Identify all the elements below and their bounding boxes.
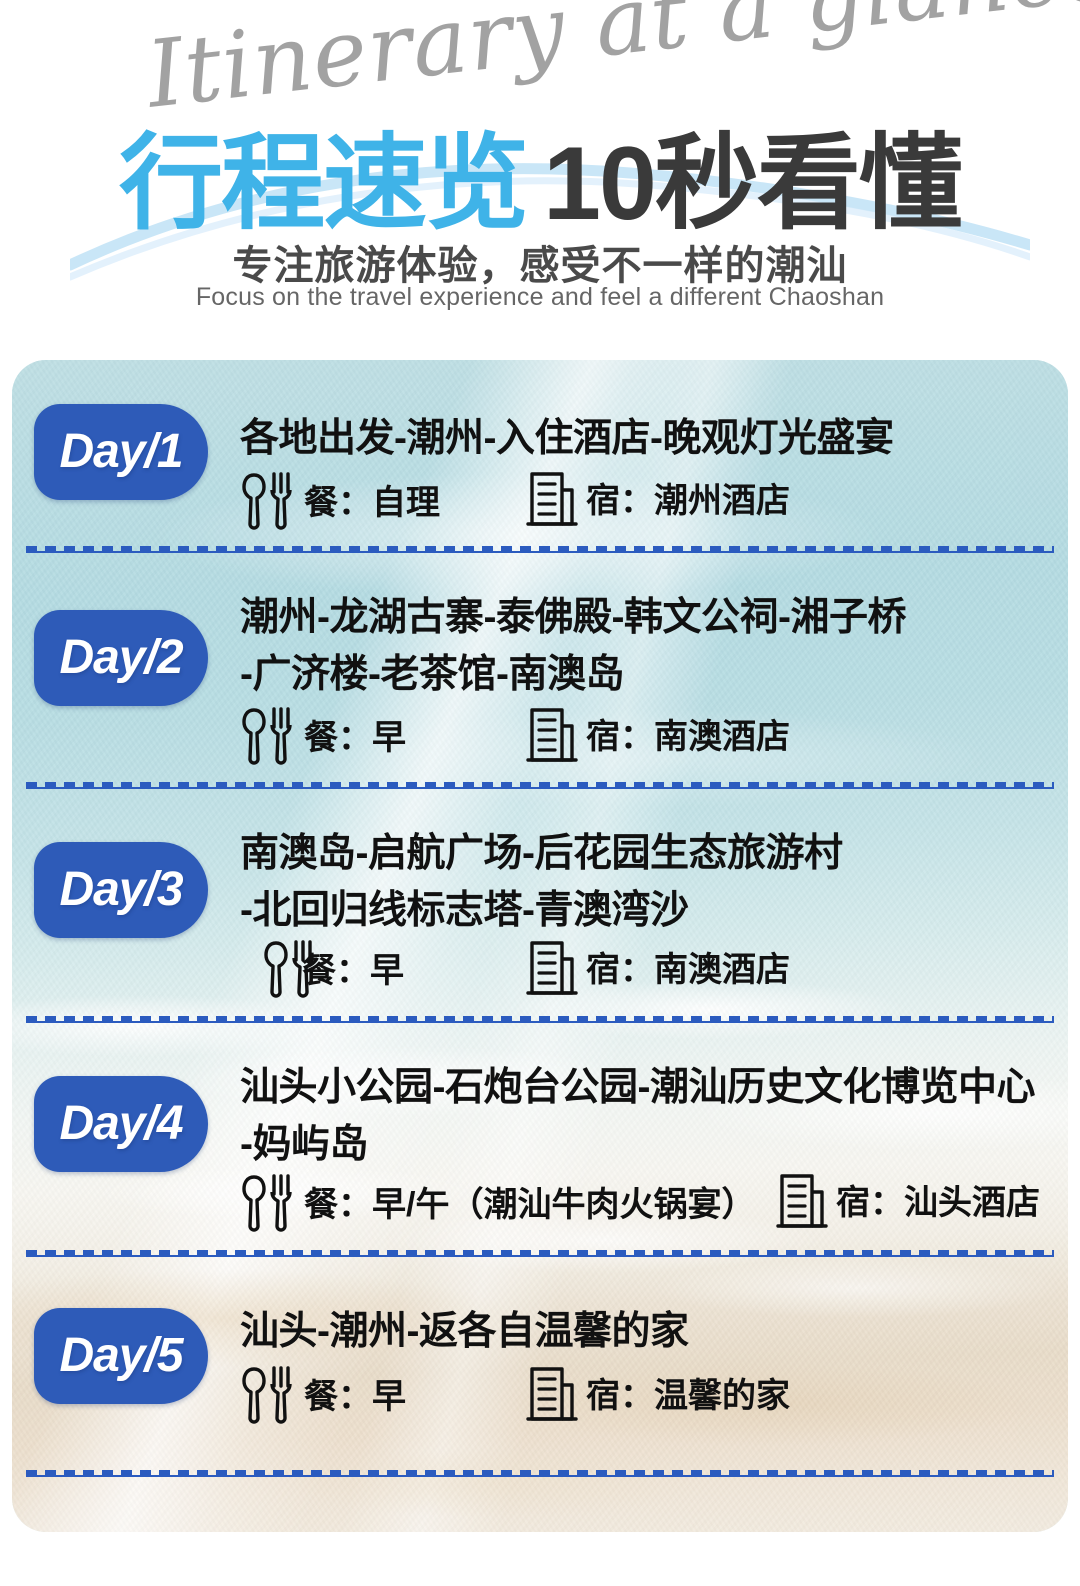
hotel-building-icon bbox=[524, 933, 580, 999]
spoon-fork-icon bbox=[240, 703, 298, 765]
hotel-building-icon bbox=[524, 464, 580, 530]
route-line-2-2: -广济楼-老茶馆-南澳岛 bbox=[240, 643, 624, 699]
day-badge-label-5: Day/5 bbox=[34, 1308, 208, 1404]
day-badge-label-4: Day/4 bbox=[34, 1076, 208, 1172]
stay-text-4: 宿：汕头酒店 bbox=[836, 1175, 1040, 1224]
day-badge-1[interactable]: Day/1 bbox=[34, 404, 208, 500]
route-line-3-1: 南澳岛-启航广场-后花园生态旅游村 bbox=[240, 822, 842, 878]
day-badge-label-1: Day/1 bbox=[34, 404, 208, 500]
page-header: Itinerary at a glance 行程速览10秒看懂 专注旅游体验，感… bbox=[0, 0, 1080, 340]
route-line-1-1: 各地出发-潮州-入住酒店-晚观灯光盛宴 bbox=[240, 407, 893, 463]
day-rows-container: Day/1 各地出发-潮州-入住酒店-晚观灯光盛宴 餐：自理 宿：潮州酒店 bbox=[12, 360, 1068, 1532]
stay-text-1: 宿：潮州酒店 bbox=[586, 473, 790, 522]
stay-info-1: 宿：潮州酒店 bbox=[524, 464, 790, 530]
day-badge-label-2: Day/2 bbox=[34, 610, 208, 706]
stay-info-4: 宿：汕头酒店 bbox=[774, 1166, 1040, 1232]
row-divider-2 bbox=[26, 782, 1054, 790]
stay-text-5: 宿：温馨的家 bbox=[586, 1368, 790, 1417]
divider-solid-line bbox=[26, 787, 1054, 789]
stay-info-5: 宿：温馨的家 bbox=[524, 1359, 790, 1425]
title-dark-text: 10秒看懂 bbox=[543, 126, 961, 242]
meal-info-4: 餐：早/午（潮汕牛肉火锅宴） bbox=[240, 1170, 755, 1232]
subtitle-english: Focus on the travel experience and feel … bbox=[0, 283, 1080, 312]
day-badge-label-3: Day/3 bbox=[34, 842, 208, 938]
meal-text-4: 餐：早/午（潮汕牛肉火锅宴） bbox=[304, 1177, 755, 1226]
meal-info-2: 餐：早 bbox=[240, 703, 406, 765]
day-badge-3[interactable]: Day/3 bbox=[34, 842, 208, 938]
day-badge-5[interactable]: Day/5 bbox=[34, 1308, 208, 1404]
row-divider-4 bbox=[26, 1250, 1054, 1258]
divider-solid-line bbox=[26, 551, 1054, 553]
day-badge-2[interactable]: Day/2 bbox=[34, 610, 208, 706]
title-blue-text: 行程速览 bbox=[119, 126, 527, 242]
stay-info-3: 宿：南澳酒店 bbox=[524, 933, 790, 999]
stay-text-3: 宿：南澳酒店 bbox=[586, 942, 790, 991]
stay-text-2: 宿：南澳酒店 bbox=[586, 709, 790, 758]
meal-info-5: 餐：早 bbox=[240, 1362, 406, 1424]
meal-text-3: 餐：早 bbox=[302, 943, 404, 992]
route-line-2-1: 潮州-龙湖古寨-泰佛殿-韩文公祠-湘子桥 bbox=[240, 586, 906, 642]
row-divider-5 bbox=[26, 1470, 1054, 1478]
meal-text-2: 餐：早 bbox=[304, 710, 406, 759]
hotel-building-icon bbox=[524, 700, 580, 766]
spoon-fork-icon bbox=[240, 1362, 298, 1424]
meal-text-5: 餐：早 bbox=[304, 1369, 406, 1418]
hotel-building-icon bbox=[774, 1166, 830, 1232]
route-line-5-1: 汕头-潮州-返各自温馨的家 bbox=[240, 1300, 688, 1356]
day-badge-4[interactable]: Day/4 bbox=[34, 1076, 208, 1172]
divider-solid-line bbox=[26, 1255, 1054, 1257]
page-title: 行程速览10秒看懂 bbox=[0, 98, 1080, 249]
row-divider-1 bbox=[26, 546, 1054, 554]
meal-info-1: 餐：自理 bbox=[240, 468, 440, 530]
row-divider-3 bbox=[26, 1016, 1054, 1024]
itinerary-card: Day/1 各地出发-潮州-入住酒店-晚观灯光盛宴 餐：自理 宿：潮州酒店 bbox=[12, 360, 1068, 1532]
route-line-4-1: 汕头小公园-石炮台公园-潮汕历史文化博览中心 bbox=[240, 1056, 1035, 1112]
meal-info-3: 餐：早 bbox=[262, 936, 404, 998]
hotel-building-icon bbox=[524, 1359, 580, 1425]
spoon-fork-icon bbox=[240, 468, 298, 530]
spoon-fork-icon bbox=[240, 1170, 298, 1232]
divider-solid-line bbox=[26, 1021, 1054, 1023]
route-line-4-2: -妈屿岛 bbox=[240, 1113, 368, 1169]
route-line-3-2: -北回归线标志塔-青澳湾沙 bbox=[240, 879, 688, 935]
divider-solid-line bbox=[26, 1475, 1054, 1477]
meal-text-1: 餐：自理 bbox=[304, 475, 440, 524]
stay-info-2: 宿：南澳酒店 bbox=[524, 700, 790, 766]
